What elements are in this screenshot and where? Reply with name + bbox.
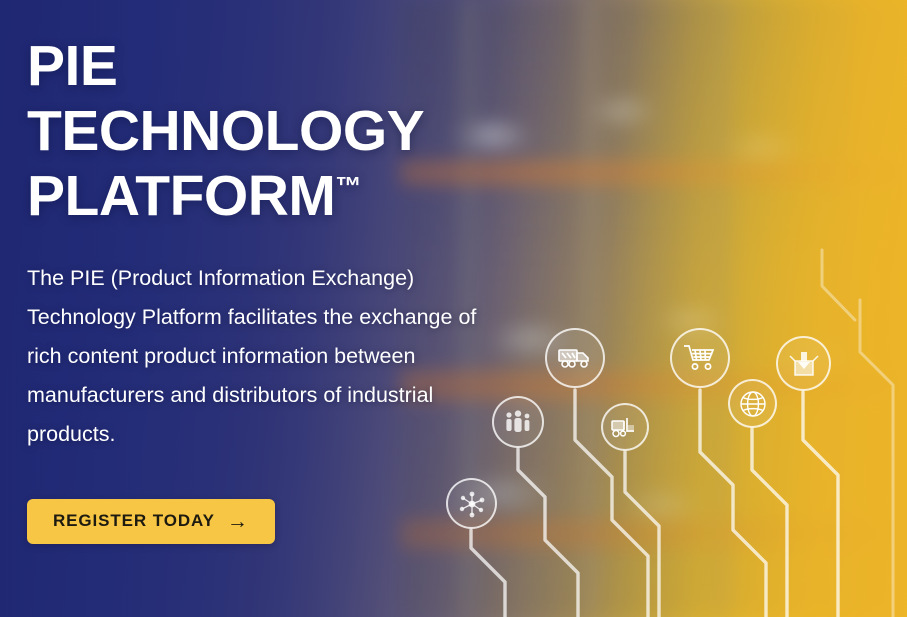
arrow-right-icon: → xyxy=(227,511,249,532)
register-today-label: REGISTER TODAY xyxy=(53,511,215,531)
headline-line-1: PIE xyxy=(27,34,117,98)
hero-content: PIE TECHNOLOGY PLATFORM™ The PIE (Produc… xyxy=(0,0,520,544)
trademark-symbol: ™ xyxy=(335,171,361,201)
globe-node xyxy=(728,379,777,428)
delivery-truck-icon xyxy=(558,346,592,370)
forklift-icon xyxy=(611,416,639,438)
page-title: PIE TECHNOLOGY PLATFORM™ xyxy=(27,34,520,229)
shopping-cart-icon xyxy=(683,344,717,372)
headline-line-3: PLATFORM xyxy=(27,164,335,228)
box-download-node xyxy=(776,336,831,391)
hero-description: The PIE (Product Information Exchange) T… xyxy=(27,259,497,455)
globe-icon xyxy=(739,390,767,418)
forklift-node xyxy=(601,403,649,451)
shopping-cart-node xyxy=(670,328,730,388)
box-download-icon xyxy=(788,350,820,378)
hero-banner: PIE TECHNOLOGY PLATFORM™ The PIE (Produc… xyxy=(0,0,907,617)
register-today-button[interactable]: REGISTER TODAY → xyxy=(27,499,275,544)
delivery-truck-node xyxy=(545,328,605,388)
headline-line-2: TECHNOLOGY xyxy=(27,99,424,163)
